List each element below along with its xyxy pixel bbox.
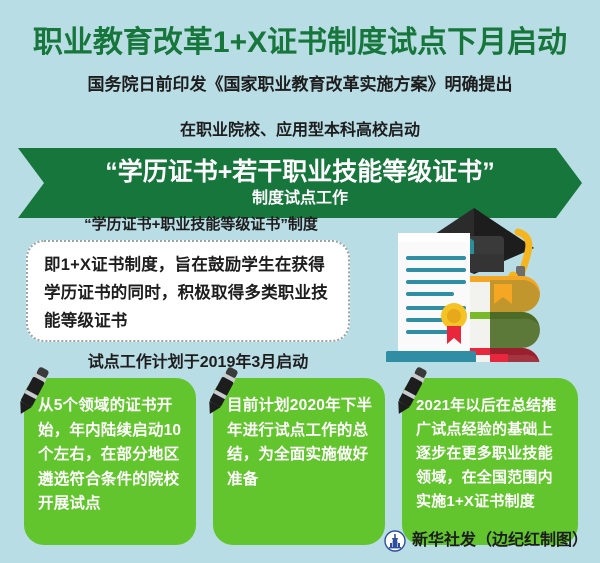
- ribbon-primary-text: “学历证书+若干职业技能等级证书”: [105, 157, 495, 187]
- credit-text: 新华社发（边纪红制图）: [412, 530, 588, 552]
- certificate-icon: [398, 233, 470, 362]
- callout-box: 即1+X证书制度，旨在鼓励学生在获得学历证书的同时，积极取得多类职业技能等级证书: [26, 240, 350, 342]
- plan-card-3-text: 2021年以后在总结推广试点经验的基础上逐步在更多职业技能领域，在全国范围内实施…: [416, 394, 567, 514]
- footer: 新华社发（边纪红制图）: [0, 526, 588, 556]
- page-title: 职业教育改革1+X证书制度试点下月启动: [0, 24, 600, 62]
- ribbon-secondary-text: 制度试点工作: [252, 189, 348, 209]
- plan-card-1[interactable]: 从5个领域的证书开始，年内陆续启动10个左右，在部分地区遴选符合条件的院校开展试…: [24, 378, 196, 545]
- plan-card-1-text: 从5个领域的证书开始，年内陆续启动10个左右，在部分地区遴选符合条件的院校开展试…: [38, 394, 185, 517]
- desk-bar: [386, 351, 476, 362]
- page-subtitle: 国务院日前印发《国家职业教育改革实施方案》明确提出: [0, 73, 600, 97]
- graduation-cap-books-certificate-illustration: [372, 196, 584, 362]
- ribbon-kicker-text: 在职业院校、应用型本科高校启动: [0, 120, 600, 142]
- infographic-canvas: 职业教育改革1+X证书制度试点下月启动 国务院日前印发《国家职业教育改革实施方案…: [0, 0, 600, 563]
- plan-heading: 试点工作计划于2019年3月启动: [38, 352, 358, 374]
- plan-card-2-text: 目前计划2020年下半年进行试点工作的总结，为全面实施做好准备: [227, 394, 374, 492]
- plan-card-2[interactable]: 目前计划2020年下半年进行试点工作的总结，为全面实施做好准备: [213, 378, 385, 545]
- plan-card-3[interactable]: 2021年以后在总结推广试点经验的基础上逐步在更多职业技能领域，在全国范围内实施…: [402, 378, 578, 545]
- xinhua-logo: [384, 530, 406, 552]
- callout-text: 即1+X证书制度，旨在鼓励学生在获得学历证书的同时，积极取得多类职业技能等级证书: [44, 251, 334, 335]
- callout-label: “学历证书+职业技能等级证书”制度: [36, 214, 366, 236]
